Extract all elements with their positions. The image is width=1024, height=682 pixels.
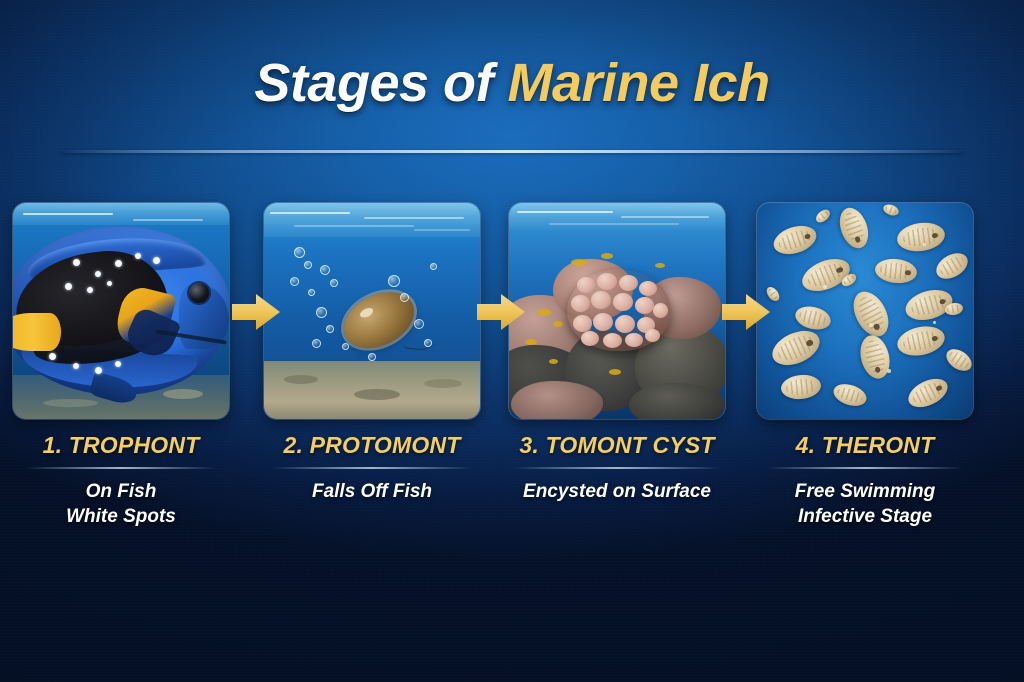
stage-3-desc-line-1: Encysted on Surface (499, 479, 735, 504)
stage-3-name: 3. TOMONT CYST (499, 432, 735, 459)
stage-image-1-trophont (13, 203, 229, 419)
arrow-stage-1-to-2 (232, 292, 280, 332)
stage-2-name: 2. PROTOMONT (254, 432, 490, 459)
stage-image-4-theront (757, 203, 973, 419)
title-divider (62, 150, 962, 153)
stage-image-2-protomont (264, 203, 480, 419)
stage-caption-2: 2. PROTOMONT Falls Off Fish (254, 432, 490, 504)
title-part-gold: Marine Ich (508, 53, 770, 113)
stage-2-divider (272, 467, 472, 469)
stage-image-3-tomont-cyst (509, 203, 725, 419)
stage-1-name: 1. TROPHONT (3, 432, 239, 459)
stage-4-name: 4. THERONT (747, 432, 983, 459)
title-part-white: Stages of (254, 53, 493, 113)
stage-3-divider (513, 467, 721, 469)
stage-caption-4: 4. THERONT Free Swimming Infective Stage (747, 432, 983, 529)
page-title: Stages of Marine Ich (0, 52, 1024, 114)
stage-4-desc-line-1: Free Swimming (747, 479, 983, 504)
stage-2-desc-line-1: Falls Off Fish (254, 479, 490, 504)
infographic-canvas: Stages of Marine Ich (0, 0, 1024, 682)
tomont-cyst-illustration (567, 269, 671, 351)
arrow-stage-2-to-3 (477, 292, 525, 332)
stage-4-divider (767, 467, 963, 469)
stage-caption-1: 1. TROPHONT On Fish White Spots (3, 432, 239, 529)
arrow-stage-3-to-4 (722, 292, 770, 332)
stage-1-desc-line-1: On Fish (3, 479, 239, 504)
stage-caption-3: 3. TOMONT CYST Encysted on Surface (499, 432, 735, 504)
stage-1-divider (26, 467, 216, 469)
fish-illustration (13, 227, 229, 397)
stage-4-desc-line-2: Infective Stage (747, 504, 983, 529)
stage-1-desc-line-2: White Spots (3, 504, 239, 529)
